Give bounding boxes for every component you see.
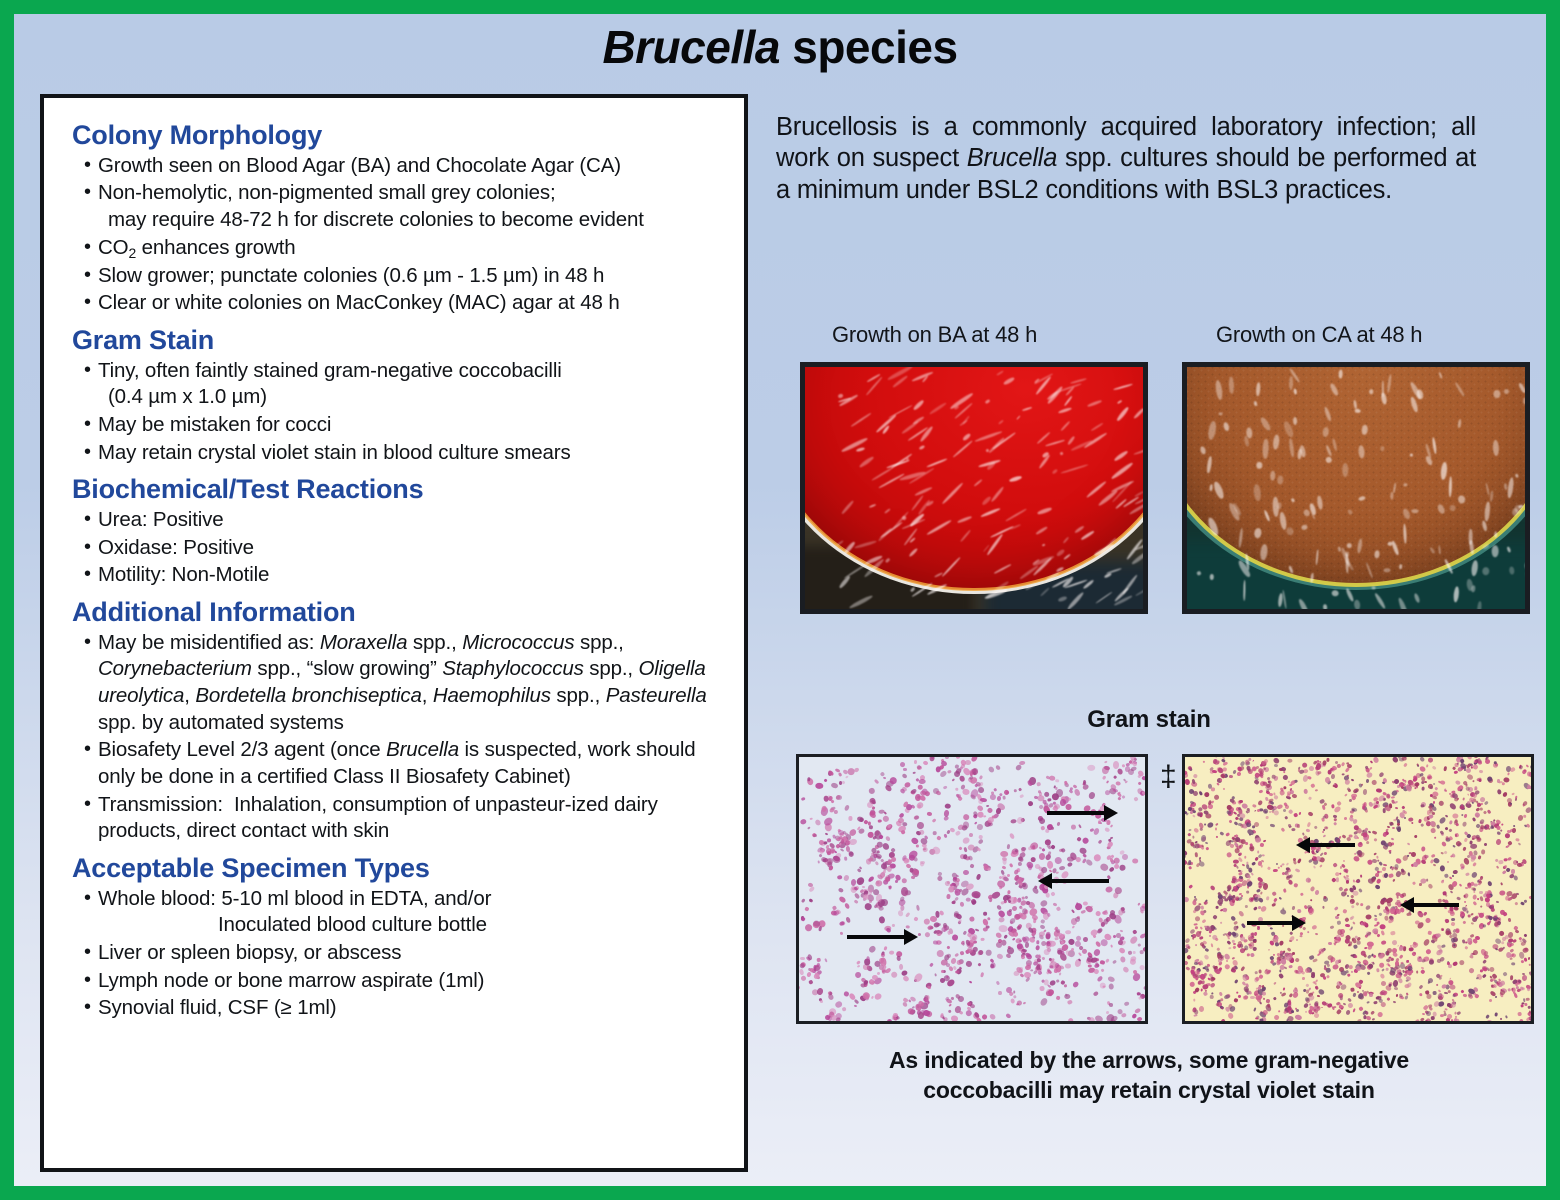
- coccobacillus: [826, 838, 831, 842]
- list-item: Clear or white colonies on MacConkey (MA…: [58, 290, 730, 317]
- coccobacillus: [1037, 790, 1040, 793]
- coccobacillus: [1239, 823, 1243, 827]
- coccobacillus: [1409, 852, 1412, 854]
- coccobacillus: [1410, 822, 1413, 825]
- coccobacillus: [1528, 895, 1532, 899]
- coccobacillus: [862, 992, 869, 999]
- colony-streak: [1347, 542, 1352, 547]
- coccobacillus: [1210, 943, 1213, 947]
- coccobacillus: [1511, 988, 1514, 991]
- coccobacillus: [1273, 810, 1279, 815]
- coccobacillus: [1200, 988, 1202, 991]
- coccobacillus: [1273, 792, 1275, 795]
- coccobacillus: [1386, 968, 1389, 971]
- coccobacillus: [1219, 997, 1223, 1001]
- coccobacillus: [1208, 783, 1213, 788]
- coccobacillus: [1426, 879, 1428, 882]
- coccobacillus: [868, 832, 874, 838]
- coccobacillus: [1109, 1003, 1113, 1007]
- list-item: CO2 enhances growth: [58, 235, 730, 262]
- list-item: Urea: Positive: [58, 507, 730, 534]
- coccobacillus: [1284, 754, 1286, 756]
- coccobacillus: [1030, 969, 1033, 971]
- colony-streak: [1383, 568, 1390, 573]
- list-specimen-types: Whole blood: 5-10 ml blood in EDTA, and/…: [58, 886, 730, 1022]
- list-item: Motility: Non-Motile: [58, 562, 730, 589]
- coccobacillus: [1227, 805, 1232, 810]
- list-item: May be misidentified as: Moraxella spp.,…: [58, 630, 730, 737]
- left-info-panel: Colony Morphology Growth seen on Blood A…: [40, 94, 748, 1172]
- coccobacillus: [953, 877, 957, 880]
- coccobacillus: [1281, 871, 1285, 875]
- coccobacillus: [980, 938, 984, 941]
- coccobacillus: [944, 755, 948, 759]
- coccobacillus: [1284, 804, 1289, 809]
- double-dagger-marker: ‡: [1160, 762, 1177, 792]
- coccobacillus: [1246, 953, 1249, 956]
- list-item-text: Lymph node or bone marrow aspirate (1ml): [98, 969, 484, 992]
- list-item: Liver or spleen biopsy, or abscess: [58, 940, 730, 967]
- coccobacillus: [1283, 1010, 1287, 1014]
- gram-stain-note: As indicated by the arrows, some gram-ne…: [774, 1046, 1524, 1106]
- coccobacillus: [1315, 789, 1318, 792]
- coccobacillus: [1045, 839, 1051, 845]
- coccobacillus: [1309, 766, 1314, 772]
- coccobacillus: [1474, 754, 1478, 758]
- coccobacillus: [1238, 800, 1242, 804]
- coccobacillus: [1259, 842, 1264, 846]
- coccobacillus: [1357, 1019, 1361, 1023]
- coccobacillus: [1071, 824, 1076, 830]
- section-heading-biochemical-test-reactions: Biochemical/Test Reactions: [72, 474, 730, 505]
- coccobacillus: [1380, 981, 1385, 986]
- list-item-text: May retain crystal violet stain in blood…: [98, 441, 571, 464]
- annotation-arrow: [1247, 921, 1293, 925]
- list-item-text: Liver or spleen biopsy, or abscess: [98, 941, 401, 964]
- coccobacillus: [1487, 1020, 1492, 1024]
- coccobacillus: [1494, 761, 1497, 764]
- coccobacillus: [1382, 808, 1385, 813]
- coccobacillus: [1379, 953, 1384, 958]
- coccobacillus: [1231, 795, 1235, 798]
- coccobacillus: [1364, 808, 1368, 812]
- coccobacillus: [1420, 823, 1424, 827]
- coccobacillus: [1014, 848, 1018, 852]
- coccobacillus: [1499, 988, 1502, 991]
- coccobacillus: [1368, 993, 1372, 997]
- coccobacillus: [1182, 800, 1184, 803]
- coccobacillus: [978, 812, 984, 818]
- coccobacillus: [1009, 909, 1012, 912]
- list-item-continuation: (0.4 µm x 1.0 µm): [98, 384, 730, 411]
- coccobacillus: [1419, 1017, 1424, 1022]
- list-item: Transmission: Inhalation, consumption of…: [58, 792, 730, 845]
- coccobacillus: [1220, 779, 1222, 782]
- list-item-text: Oxidase: Positive: [98, 536, 254, 559]
- coccobacillus: [1220, 1019, 1226, 1024]
- colony-streak: [1524, 397, 1530, 404]
- section-heading-additional-information: Additional Information: [72, 597, 730, 628]
- coccobacillus: [1363, 832, 1368, 837]
- coccobacillus: [900, 887, 907, 896]
- coccobacillus: [1496, 900, 1499, 902]
- coccobacillus: [1407, 959, 1409, 961]
- coccobacillus: [1113, 761, 1119, 769]
- coccobacillus: [1204, 824, 1206, 826]
- section-heading-colony-morphology: Colony Morphology: [72, 120, 730, 151]
- coccobacillus: [1501, 782, 1504, 785]
- coccobacillus: [1297, 823, 1300, 827]
- coccobacillus: [1452, 813, 1458, 818]
- coccobacillus: [1199, 903, 1202, 905]
- coccobacillus: [1465, 768, 1471, 774]
- coccobacillus: [1212, 759, 1216, 764]
- coccobacillus: [1443, 766, 1447, 771]
- coccobacillus: [1030, 856, 1035, 861]
- list-item: Synovial fluid, CSF (≥ 1ml): [58, 995, 730, 1022]
- coccobacillus: [1330, 774, 1334, 779]
- blood-agar-plate-image: [800, 362, 1148, 614]
- list-item-text: May be mistaken for cocci: [98, 413, 331, 436]
- annotation-arrow: [1309, 843, 1355, 847]
- coccobacillus: [1508, 917, 1512, 921]
- poster-canvas: Brucella species Colony Morphology Growt…: [14, 14, 1546, 1186]
- coccobacillus: [1450, 1002, 1455, 1008]
- coccobacillus: [1440, 780, 1445, 784]
- coccobacillus: [884, 946, 888, 950]
- colony-streak: [1210, 574, 1214, 580]
- colony-streak: [1371, 586, 1375, 589]
- coccobacillus: [1194, 943, 1197, 945]
- colony-streak: [1218, 412, 1222, 416]
- coccobacillus: [1355, 880, 1358, 883]
- coccobacillus: [1246, 862, 1248, 865]
- list-item: May be mistaken for cocci: [58, 412, 730, 439]
- coccobacillus: [986, 916, 990, 920]
- coccobacillus: [1414, 835, 1418, 839]
- coccobacillus: [1132, 858, 1138, 863]
- coccobacillus: [1359, 902, 1363, 906]
- gram-stain-micrograph-right: [1182, 754, 1534, 1024]
- coccobacillus: [1278, 866, 1280, 868]
- coccobacillus: [1297, 768, 1300, 771]
- colony-streak: [1322, 604, 1327, 610]
- colony-streak: [1256, 462, 1262, 469]
- coccobacillus: [1259, 891, 1262, 894]
- coccobacillus: [1418, 993, 1422, 997]
- coccobacillus: [890, 777, 897, 784]
- coccobacillus: [1350, 917, 1353, 920]
- coccobacillus: [1440, 880, 1443, 884]
- colony-streak: [1341, 463, 1347, 477]
- coccobacillus: [1392, 827, 1395, 829]
- coccobacillus: [1361, 989, 1363, 991]
- coccobacillus: [1249, 843, 1253, 847]
- coccobacillus: [1365, 914, 1371, 919]
- coccobacillus: [1137, 943, 1141, 947]
- list-item-text: Tiny, often faintly stained gram-negativ…: [98, 359, 562, 382]
- coccobacillus: [1334, 941, 1336, 944]
- coccobacillus: [1476, 879, 1479, 882]
- list-item: Lymph node or bone marrow aspirate (1ml): [58, 968, 730, 995]
- coccobacillus: [877, 850, 880, 854]
- coccobacillus: [1264, 970, 1270, 975]
- coccobacillus: [883, 870, 886, 873]
- coccobacillus: [836, 795, 842, 800]
- page-title: Brucella species: [14, 20, 1546, 74]
- coccobacillus: [1481, 849, 1485, 854]
- coccobacillus: [1198, 856, 1201, 859]
- coccobacillus: [972, 891, 981, 898]
- coccobacillus: [1511, 962, 1515, 965]
- coccobacillus: [1465, 783, 1468, 786]
- coccobacillus: [1520, 960, 1523, 963]
- coccobacillus: [969, 833, 973, 837]
- coccobacillus: [1373, 1000, 1377, 1004]
- coccobacillus: [1066, 964, 1072, 969]
- coccobacillus: [1335, 877, 1338, 882]
- coccobacillus: [1457, 787, 1461, 791]
- list-item-text: Synovial fluid, CSF (≥ 1ml): [98, 996, 336, 1019]
- coccobacillus: [864, 902, 872, 910]
- coccobacillus: [1483, 924, 1487, 927]
- coccobacillus: [1346, 895, 1349, 897]
- coccobacillus: [1239, 812, 1246, 819]
- list-gram-stain: Tiny, often faintly stained gram-negativ…: [58, 358, 730, 467]
- colony-streak: [1390, 492, 1393, 500]
- coccobacillus: [1490, 984, 1493, 987]
- colony-streak: [1412, 509, 1419, 513]
- coccobacillus: [1036, 957, 1041, 962]
- coccobacillus: [998, 991, 1002, 996]
- caption-blood-agar: Growth on BA at 48 h: [832, 322, 1037, 348]
- coccobacillus: [1331, 804, 1334, 808]
- coccobacillus: [898, 818, 904, 824]
- coccobacillus: [1343, 860, 1345, 862]
- coccobacillus: [1433, 991, 1437, 995]
- coccobacillus: [1285, 1020, 1290, 1024]
- coccobacillus: [1036, 782, 1040, 786]
- coccobacillus: [917, 784, 923, 790]
- coccobacillus: [1406, 855, 1409, 857]
- coccobacillus: [1283, 786, 1287, 789]
- coccobacillus: [1265, 998, 1269, 1002]
- coccobacillus: [983, 912, 987, 916]
- colony-streak: [1380, 446, 1384, 451]
- coccobacillus: [1013, 990, 1015, 993]
- coccobacillus: [1475, 976, 1478, 979]
- list-item-text: Urea: Positive: [98, 508, 224, 531]
- coccobacillus: [1421, 846, 1425, 851]
- coccobacillus: [1252, 825, 1255, 828]
- coccobacillus: [1306, 930, 1309, 933]
- coccobacillus: [1006, 843, 1010, 848]
- caption-chocolate-agar: Growth on CA at 48 h: [1216, 322, 1422, 348]
- coccobacillus: [1445, 789, 1448, 792]
- colony-streak: [1494, 390, 1501, 399]
- coccobacillus: [1182, 844, 1185, 847]
- coccobacillus: [1372, 1017, 1375, 1020]
- colony-streak: [1494, 532, 1497, 538]
- coccobacillus: [872, 975, 878, 980]
- list-colony-morphology: Growth seen on Blood Agar (BA) and Choco…: [58, 153, 730, 317]
- coccobacillus: [1188, 788, 1194, 794]
- coccobacillus: [1512, 860, 1518, 866]
- coccobacillus: [885, 877, 890, 883]
- coccobacillus: [1465, 786, 1470, 791]
- colony-streak: [1477, 601, 1482, 614]
- coccobacillus: [1529, 971, 1533, 975]
- coccobacillus: [1525, 1016, 1531, 1022]
- coccobacillus: [915, 845, 918, 848]
- coccobacillus: [1428, 758, 1433, 763]
- coccobacillus: [1451, 918, 1455, 921]
- poster-root: Brucella species Colony Morphology Growt…: [0, 0, 1560, 1200]
- coccobacillus: [1363, 946, 1367, 949]
- list-item: Non-hemolytic, non-pigmented small grey …: [58, 180, 730, 233]
- coccobacillus: [1232, 880, 1236, 883]
- coccobacillus: [1257, 906, 1260, 910]
- coccobacillus: [947, 931, 951, 935]
- coccobacillus: [1223, 908, 1227, 912]
- list-item: Tiny, often faintly stained gram-negativ…: [58, 358, 730, 411]
- coccobacillus: [1335, 761, 1338, 764]
- coccobacillus: [848, 816, 852, 821]
- coccobacillus: [1510, 975, 1514, 980]
- coccobacillus: [1044, 949, 1050, 955]
- coccobacillus: [1432, 1011, 1437, 1016]
- colony-streak: [1374, 550, 1380, 559]
- coccobacillus: [1395, 960, 1399, 965]
- coccobacillus: [1233, 943, 1236, 945]
- coccobacillus: [905, 925, 909, 929]
- coccobacillus: [953, 910, 959, 916]
- coccobacillus: [1393, 819, 1396, 821]
- coccobacillus: [1193, 962, 1197, 965]
- coccobacillus: [1426, 1011, 1431, 1016]
- coccobacillus: [1388, 803, 1392, 808]
- gram-note-line-1: As indicated by the arrows, some gram-ne…: [889, 1047, 1409, 1073]
- coccobacillus: [1361, 950, 1366, 955]
- coccobacillus: [1527, 786, 1532, 789]
- chocolate-agar-plate-image: [1182, 362, 1530, 614]
- list-item-text: Whole blood: 5-10 ml blood in EDTA, and/…: [98, 887, 491, 910]
- coccobacillus: [869, 900, 873, 903]
- coccobacillus: [1231, 899, 1234, 903]
- coccobacillus: [992, 814, 996, 818]
- list-item-text: Slow grower; punctate colonies (0.6 µm -…: [98, 264, 604, 287]
- list-biochemical: Urea: Positive Oxidase: Positive Motilit…: [58, 507, 730, 589]
- coccobacillus: [1459, 805, 1464, 809]
- coccobacillus: [1210, 995, 1214, 999]
- coccobacillus: [1435, 933, 1440, 938]
- coccobacillus: [957, 959, 962, 964]
- list-item-continuation: may require 48-72 h for discrete colonie…: [98, 207, 730, 234]
- coccobacillus: [1018, 787, 1022, 791]
- coccobacillus: [1239, 943, 1243, 947]
- coccobacillus: [1472, 894, 1477, 900]
- section-heading-acceptable-specimen-types: Acceptable Specimen Types: [72, 853, 730, 884]
- coccobacillus: [948, 1003, 951, 1006]
- coccobacillus: [1299, 931, 1303, 935]
- coccobacillus: [1377, 870, 1380, 872]
- list-item: Biosafety Level 2/3 agent (once Brucella…: [58, 737, 730, 790]
- list-item: Oxidase: Positive: [58, 535, 730, 562]
- coccobacillus: [1357, 842, 1362, 847]
- coccobacillus: [933, 831, 937, 835]
- coccobacillus: [1262, 883, 1268, 890]
- subscript-two: 2: [128, 245, 136, 261]
- coccobacillus: [1353, 954, 1357, 958]
- annotation-arrow: [847, 935, 905, 939]
- coccobacillus: [957, 794, 961, 798]
- coccobacillus: [1479, 891, 1483, 894]
- coccobacillus: [868, 878, 872, 882]
- gram-stain-heading: Gram stain: [774, 706, 1524, 734]
- coccobacillus: [1108, 917, 1111, 921]
- list-item-text: Motility: Non-Motile: [98, 563, 269, 586]
- intro-genus: Brucella: [967, 144, 1058, 172]
- coccobacillus: [923, 847, 928, 852]
- coccobacillus: [1349, 902, 1351, 904]
- coccobacillus: [919, 778, 926, 783]
- coccobacillus: [1055, 779, 1059, 782]
- coccobacillus: [935, 911, 940, 918]
- coccobacillus: [820, 1000, 823, 1003]
- coccobacillus: [1325, 826, 1327, 828]
- coccobacillus: [899, 761, 905, 767]
- right-figure-column: Brucellosis is a commonly acquired labor…: [774, 94, 1524, 1172]
- coccobacillus: [1416, 971, 1418, 974]
- coccobacillus: [1500, 823, 1503, 825]
- title-genus: Brucella: [602, 21, 780, 73]
- coccobacillus: [1002, 857, 1007, 864]
- coccobacillus: [1455, 833, 1457, 836]
- coccobacillus: [913, 760, 916, 764]
- coccobacillus: [1254, 1017, 1257, 1020]
- coccobacillus: [1043, 799, 1047, 803]
- coccobacillus: [1145, 948, 1148, 951]
- colony-streak: [1450, 505, 1456, 511]
- coccobacillus: [1529, 764, 1534, 769]
- coccobacillus: [1444, 826, 1448, 830]
- coccobacillus: [1260, 1019, 1264, 1022]
- coccobacillus: [1520, 1019, 1524, 1024]
- coccobacillus: [1334, 754, 1337, 756]
- coccobacillus: [1136, 991, 1140, 995]
- coccobacillus: [1430, 794, 1433, 797]
- coccobacillus: [813, 834, 817, 837]
- coccobacillus: [1406, 980, 1409, 982]
- coccobacillus: [1255, 837, 1261, 843]
- coccobacillus: [1064, 993, 1071, 998]
- list-item-text: Clear or white colonies on MacConkey (MA…: [98, 291, 620, 314]
- coccobacillus: [1059, 972, 1062, 975]
- intro-paragraph: Brucellosis is a commonly acquired labor…: [776, 112, 1476, 206]
- coccobacillus: [956, 754, 960, 758]
- coccobacillus: [917, 804, 921, 809]
- coccobacillus: [1288, 824, 1291, 827]
- coccobacillus: [1354, 935, 1358, 939]
- coccobacillus: [1415, 1019, 1420, 1023]
- coccobacillus: [844, 856, 847, 860]
- coccobacillus: [804, 906, 809, 911]
- coccobacillus: [993, 787, 997, 791]
- colony-streak: [1209, 484, 1213, 491]
- colony-streak: [1345, 553, 1348, 573]
- coccobacillus: [1303, 988, 1307, 992]
- annotation-arrow: [1413, 903, 1459, 907]
